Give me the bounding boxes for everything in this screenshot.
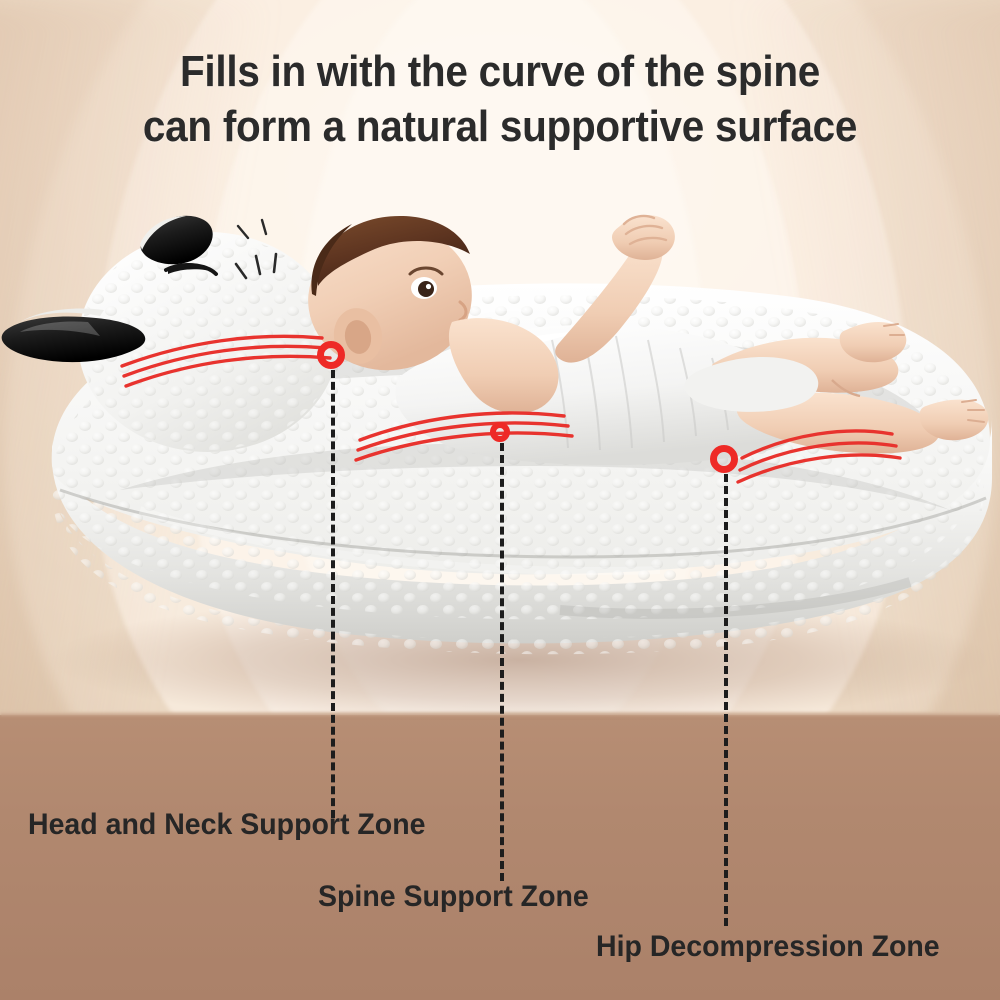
product-infographic: Head and Neck Support Zone Spine Support… [0, 0, 1000, 1000]
zone-leader-head-neck [331, 370, 335, 818]
headline: Fills in with the curve of the spine can… [40, 44, 960, 154]
zone-label-spine: Spine Support Zone [318, 882, 589, 912]
zone-marker-head-neck [317, 341, 345, 369]
zone-leader-spine [500, 443, 504, 881]
headline-line-1: Fills in with the curve of the spine [40, 44, 960, 99]
zone-label-head-neck: Head and Neck Support Zone [28, 810, 425, 840]
zone-marker-hip [710, 445, 738, 473]
headline-line-2: can form a natural supportive surface [40, 99, 960, 154]
zone-marker-spine [490, 422, 510, 442]
zone-leader-hip [724, 474, 728, 926]
zone-label-hip: Hip Decompression Zone [596, 932, 940, 962]
